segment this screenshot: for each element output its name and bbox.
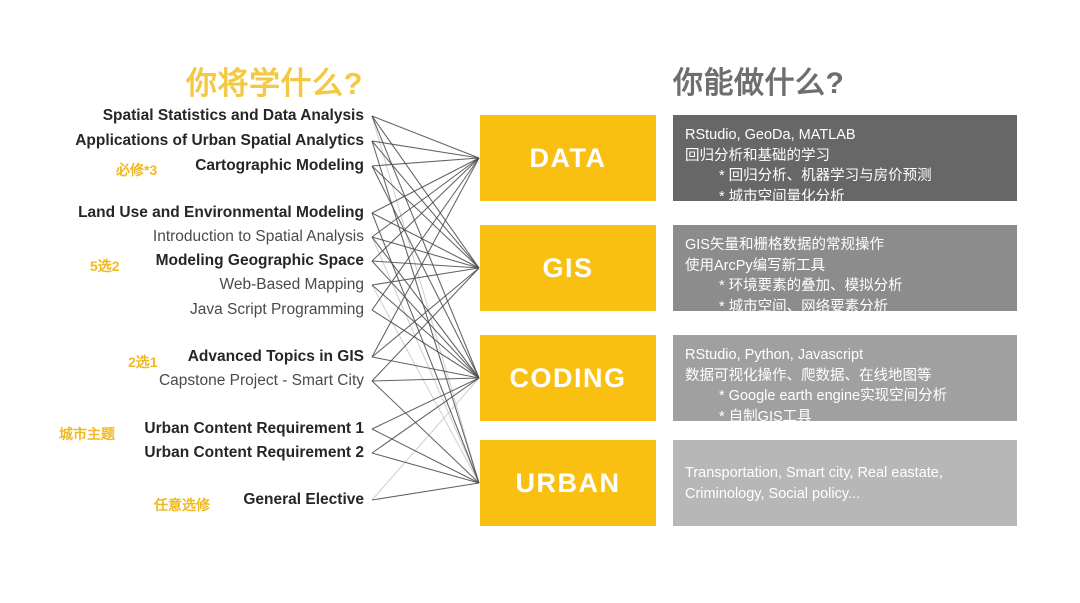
course-label: Applications of Urban Spatial Analytics <box>75 132 364 150</box>
connector-line <box>372 261 479 268</box>
connector-line <box>372 381 479 483</box>
outcome-panel-coding: RStudio, Python, Javascript数据可视化操作、爬数据、在… <box>673 335 1017 421</box>
course-label: Land Use and Environmental Modeling <box>78 204 364 222</box>
outcome-line: * 城市空间、网络要素分析 <box>685 297 1005 318</box>
connector-line <box>372 116 479 158</box>
course-label: Capstone Project - Smart City <box>159 372 364 390</box>
connector-line <box>372 213 479 483</box>
outcome-line: RStudio, GeoDa, MATLAB <box>685 125 1005 146</box>
connector-line <box>372 116 479 268</box>
outcome-line: Transportation, Smart city, Real eastate… <box>685 463 1005 484</box>
course-label: Modeling Geographic Space <box>156 252 364 270</box>
category-label: DATA <box>530 143 607 174</box>
outcome-line: * 回归分析、机器学习与房价预测 <box>685 166 1005 187</box>
category-label: URBAN <box>516 468 621 499</box>
outcome-line: Criminology, Social policy... <box>685 484 1005 505</box>
connector-line <box>372 268 479 285</box>
course-label: General Elective <box>243 491 364 509</box>
connector-line <box>372 378 479 453</box>
connector-line <box>372 378 479 500</box>
category-box-data[interactable]: DATA <box>480 115 656 201</box>
course-item[interactable]: Java Script Programming <box>190 299 364 321</box>
course-item[interactable]: Advanced Topics in GIS <box>188 346 364 368</box>
connector-line <box>372 237 479 268</box>
course-item[interactable]: Capstone Project - Smart City <box>159 370 364 392</box>
connector-line <box>372 378 479 429</box>
course-label: Urban Content Requirement 1 <box>144 420 364 438</box>
course-label: Cartographic Modeling <box>195 157 364 175</box>
outcome-line: 回归分析和基础的学习 <box>685 146 1005 167</box>
outcome-line: * 环境要素的叠加、模拟分析 <box>685 276 1005 297</box>
group-tag: 5选2 <box>90 256 120 276</box>
outcome-line: 使用ArcPy编写新工具 <box>685 256 1005 277</box>
outcome-panel-urban: Transportation, Smart city, Real eastate… <box>673 440 1017 526</box>
course-label: Java Script Programming <box>190 301 364 319</box>
outcome-panel-data: RStudio, GeoDa, MATLAB回归分析和基础的学习* 回归分析、机… <box>673 115 1017 201</box>
course-item[interactable]: Modeling Geographic Space <box>156 250 364 272</box>
connector-line <box>372 483 479 500</box>
course-label: Urban Content Requirement 2 <box>144 444 364 462</box>
course-item[interactable]: Introduction to Spatial Analysis <box>153 226 364 248</box>
course-item[interactable]: Applications of Urban Spatial Analytics <box>75 130 364 152</box>
connector-line <box>372 116 479 483</box>
slide-canvas: 你将学什么? 你能做什么? Spatial Statistics and Dat… <box>0 0 1080 603</box>
course-item[interactable]: Cartographic Modeling <box>195 155 364 177</box>
connector-line <box>372 158 479 261</box>
course-item[interactable]: Land Use and Environmental Modeling <box>78 202 364 224</box>
connector-line <box>372 158 479 166</box>
connector-line <box>372 141 479 268</box>
connector-line <box>372 158 479 310</box>
outcome-panel-gis: GIS矢量和栅格数据的常规操作使用ArcPy编写新工具* 环境要素的叠加、模拟分… <box>673 225 1017 311</box>
connector-line <box>372 116 479 378</box>
connector-line <box>372 237 479 378</box>
connector-line <box>372 158 479 213</box>
group-tag: 必修*3 <box>116 160 157 180</box>
group-tag: 城市主题 <box>59 424 115 444</box>
outcome-line: * 城市空间量化分析 <box>685 187 1005 208</box>
connector-line <box>372 158 479 237</box>
outcome-line: GIS矢量和栅格数据的常规操作 <box>685 235 1005 256</box>
course-item[interactable]: Web-Based Mapping <box>220 274 364 296</box>
outcome-line: * 自制GIS工具 <box>685 407 1005 428</box>
outcome-line: * Google earth engine实现空间分析 <box>685 386 1005 407</box>
connector-line <box>372 166 479 378</box>
connector-line <box>372 237 479 483</box>
course-item[interactable]: Urban Content Requirement 1 <box>144 418 364 440</box>
page-title-right: 你能做什么? <box>673 58 844 102</box>
group-tag: 2选1 <box>128 352 158 372</box>
category-label: GIS <box>542 253 593 284</box>
connector-line <box>372 268 479 381</box>
connector-line <box>372 357 479 378</box>
connector-line <box>372 213 479 268</box>
category-label: CODING <box>510 363 627 394</box>
connector-line <box>372 285 479 378</box>
connector-line <box>372 141 479 158</box>
connector-line <box>372 429 479 483</box>
connector-line <box>372 158 479 357</box>
course-label: Spatial Statistics and Data Analysis <box>103 107 364 125</box>
connector-line <box>372 268 479 357</box>
course-label: Advanced Topics in GIS <box>188 348 364 366</box>
group-tag: 任意选修 <box>154 495 210 515</box>
connector-line <box>372 261 479 378</box>
category-box-urban[interactable]: URBAN <box>480 440 656 526</box>
course-item[interactable]: Spatial Statistics and Data Analysis <box>103 105 364 127</box>
course-item[interactable]: Urban Content Requirement 2 <box>144 442 364 464</box>
connector-line <box>372 166 479 268</box>
connector-line <box>372 378 479 381</box>
connector-line <box>372 453 479 483</box>
outcome-line: RStudio, Python, Javascript <box>685 345 1005 366</box>
course-label: Introduction to Spatial Analysis <box>153 228 364 246</box>
category-box-gis[interactable]: GIS <box>480 225 656 311</box>
outcome-line: 数据可视化操作、爬数据、在线地图等 <box>685 366 1005 387</box>
connector-line <box>372 141 479 483</box>
connector-line <box>372 310 479 378</box>
category-box-coding[interactable]: CODING <box>480 335 656 421</box>
course-item[interactable]: General Elective <box>243 489 364 511</box>
course-label: Web-Based Mapping <box>220 276 364 294</box>
connector-line <box>372 285 479 483</box>
